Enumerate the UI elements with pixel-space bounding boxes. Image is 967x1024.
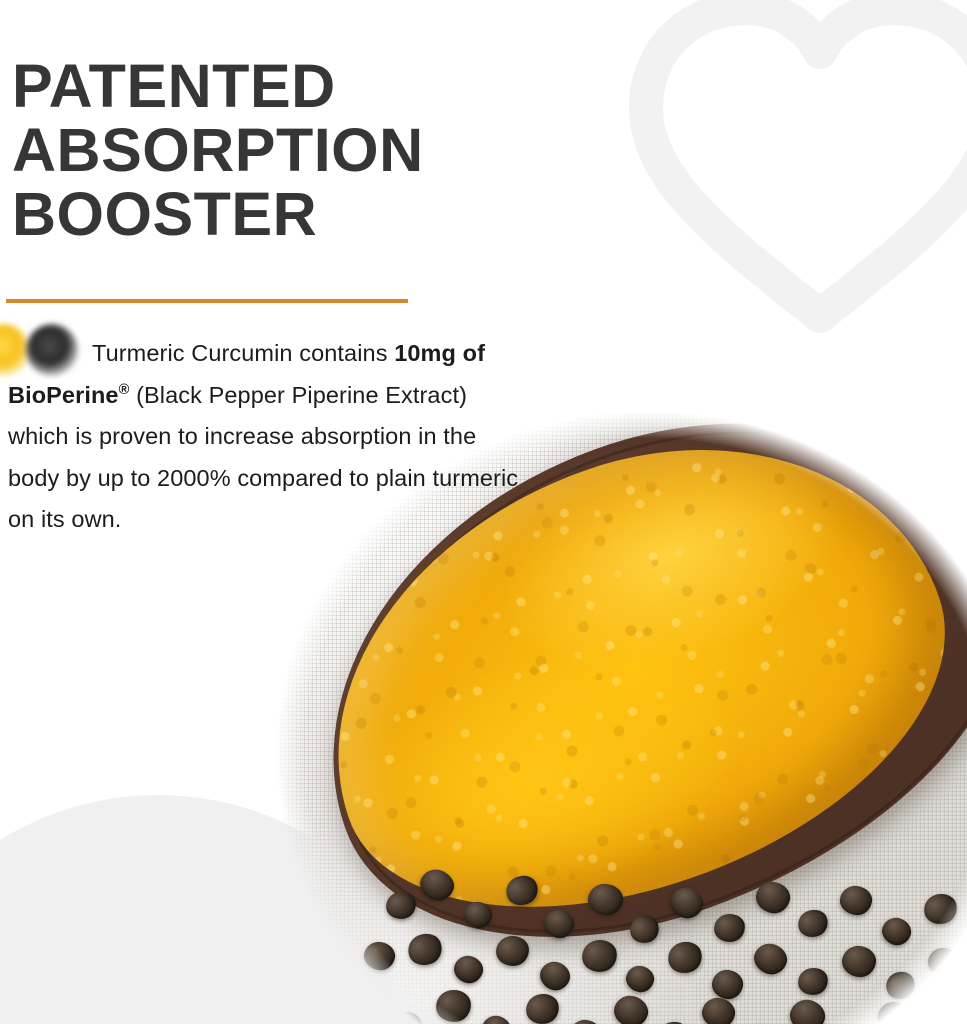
body-space bbox=[456, 340, 463, 366]
peppercorn bbox=[627, 912, 663, 947]
page-title: PATENTED ABSORPTION BOOSTER bbox=[12, 54, 532, 246]
peppercorn bbox=[664, 938, 706, 978]
registered-trademark-mark: ® bbox=[119, 382, 130, 398]
peppercorn bbox=[794, 906, 831, 942]
peppercorn-scatter bbox=[268, 784, 967, 1024]
headline-line-2: ABSORPTION bbox=[12, 116, 424, 184]
headline-line-1: PATENTED bbox=[12, 52, 336, 120]
peppercorn bbox=[921, 890, 960, 927]
peppercorn bbox=[654, 1018, 691, 1024]
peppercorn bbox=[362, 940, 397, 973]
peppercorn bbox=[569, 1018, 603, 1024]
peppercorn bbox=[390, 1010, 424, 1024]
body-bold-dose: 10mg bbox=[394, 340, 456, 366]
peppercorn bbox=[451, 953, 486, 987]
peppercorn bbox=[876, 1000, 913, 1024]
peppercorn bbox=[384, 889, 419, 922]
peppercorn bbox=[343, 992, 383, 1024]
peppercorn bbox=[700, 995, 738, 1024]
heart-outline-watermark-icon bbox=[610, 0, 967, 346]
peppercorn bbox=[478, 1012, 515, 1024]
peppercorn bbox=[462, 900, 493, 930]
peppercorn bbox=[750, 939, 791, 978]
peppercorn bbox=[623, 963, 656, 995]
peppercorn bbox=[710, 968, 745, 1001]
peppercorn bbox=[416, 865, 458, 905]
peppercorn bbox=[786, 996, 828, 1024]
spoon-handle bbox=[725, 404, 967, 600]
peppercorn bbox=[712, 912, 747, 944]
peppercorn bbox=[501, 871, 542, 911]
headline-line-3: BOOSTER bbox=[12, 180, 317, 248]
peppercorn bbox=[523, 990, 562, 1024]
body-paragraph: Turmeric Curcumin contains 10mg of BioPe… bbox=[8, 333, 528, 541]
peppercorn bbox=[882, 967, 919, 1003]
peppercorn bbox=[403, 929, 446, 970]
peppercorn bbox=[839, 884, 874, 916]
marketing-infographic-page: PATENTED ABSORPTION BOOSTER Turmeric Cur… bbox=[0, 0, 967, 1024]
peppercorn bbox=[840, 944, 877, 978]
peppercorn bbox=[796, 965, 831, 998]
body-segment-1: Turmeric Curcumin contains bbox=[92, 340, 394, 366]
peppercorn bbox=[666, 883, 708, 923]
peppercorn bbox=[879, 914, 915, 949]
peppercorn bbox=[925, 945, 962, 980]
peppercorn bbox=[495, 934, 531, 967]
circle-watermark bbox=[0, 795, 458, 1024]
peppercorn bbox=[753, 879, 793, 916]
peppercorn bbox=[579, 937, 619, 975]
peppercorn bbox=[536, 957, 575, 995]
peppercorn bbox=[541, 907, 577, 941]
divider-rule bbox=[6, 299, 408, 303]
peppercorn bbox=[610, 992, 652, 1024]
peppercorn bbox=[434, 988, 473, 1024]
peppercorn bbox=[587, 883, 625, 917]
